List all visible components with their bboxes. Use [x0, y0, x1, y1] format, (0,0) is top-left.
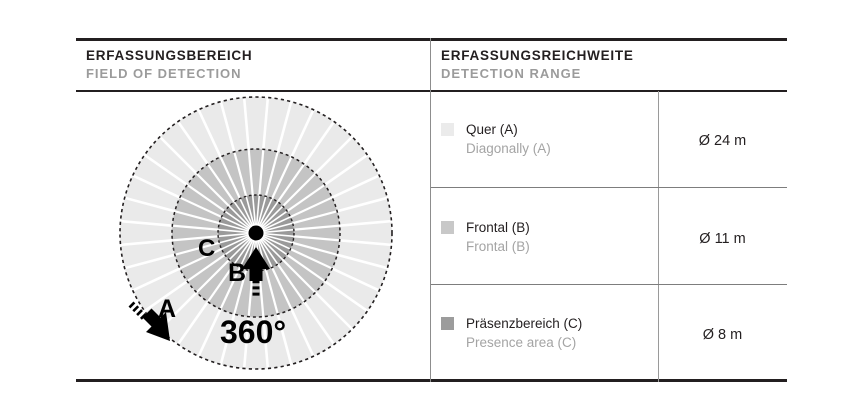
legend-en-b: Frontal (B) — [466, 239, 530, 254]
legend-de-a: Quer (A) — [466, 122, 518, 137]
column-divider-main — [430, 38, 431, 382]
legend-text-a: Quer (A) Diagonally (A) — [466, 120, 551, 158]
table-row: Quer (A) Diagonally (A) — [441, 120, 641, 158]
legend-en-a: Diagonally (A) — [466, 141, 551, 156]
detection-field-diagram: B A C 360° — [76, 91, 430, 382]
detection-spec-table: ERFASSUNGSBEREICH FIELD OF DETECTION ERF… — [0, 0, 861, 420]
diagram-label-c: C — [198, 235, 215, 262]
diagram-label-a: A — [158, 295, 176, 323]
header-left-en: FIELD OF DETECTION — [86, 65, 252, 82]
swatch-frontal-b — [441, 221, 454, 234]
range-value-c: Ø 8 m — [658, 327, 787, 343]
diagram-label-angle: 360° — [220, 314, 286, 350]
header-left-de: ERFASSUNGSBEREICH — [86, 47, 252, 65]
swatch-quer-a — [441, 123, 454, 136]
header-right-en: DETECTION RANGE — [441, 65, 634, 82]
legend-en-c: Presence area (C) — [466, 335, 576, 350]
legend-text-c: Präsenzbereich (C) Presence area (C) — [466, 314, 582, 352]
range-value-a: Ø 24 m — [658, 133, 787, 149]
legend-text-b: Frontal (B) Frontal (B) — [466, 218, 530, 256]
legend-de-c: Präsenzbereich (C) — [466, 316, 582, 331]
header-right-de: ERFASSUNGSREICHWEITE — [441, 47, 634, 65]
radial-zones-svg: B A C 360° — [76, 91, 430, 382]
range-value-b: Ø 11 m — [658, 231, 787, 247]
table-row: Präsenzbereich (C) Presence area (C) — [441, 314, 641, 352]
row-divider-1 — [431, 187, 787, 188]
header-detection-range: ERFASSUNGSREICHWEITE DETECTION RANGE — [441, 47, 634, 82]
sensor-center-dot — [249, 226, 264, 241]
diagram-label-b: B — [228, 259, 246, 287]
table-row: Frontal (B) Frontal (B) — [441, 218, 641, 256]
row-divider-2 — [431, 284, 787, 285]
swatch-praesenzbereich-c — [441, 317, 454, 330]
legend-de-b: Frontal (B) — [466, 220, 530, 235]
header-field-of-detection: ERFASSUNGSBEREICH FIELD OF DETECTION — [86, 47, 252, 82]
